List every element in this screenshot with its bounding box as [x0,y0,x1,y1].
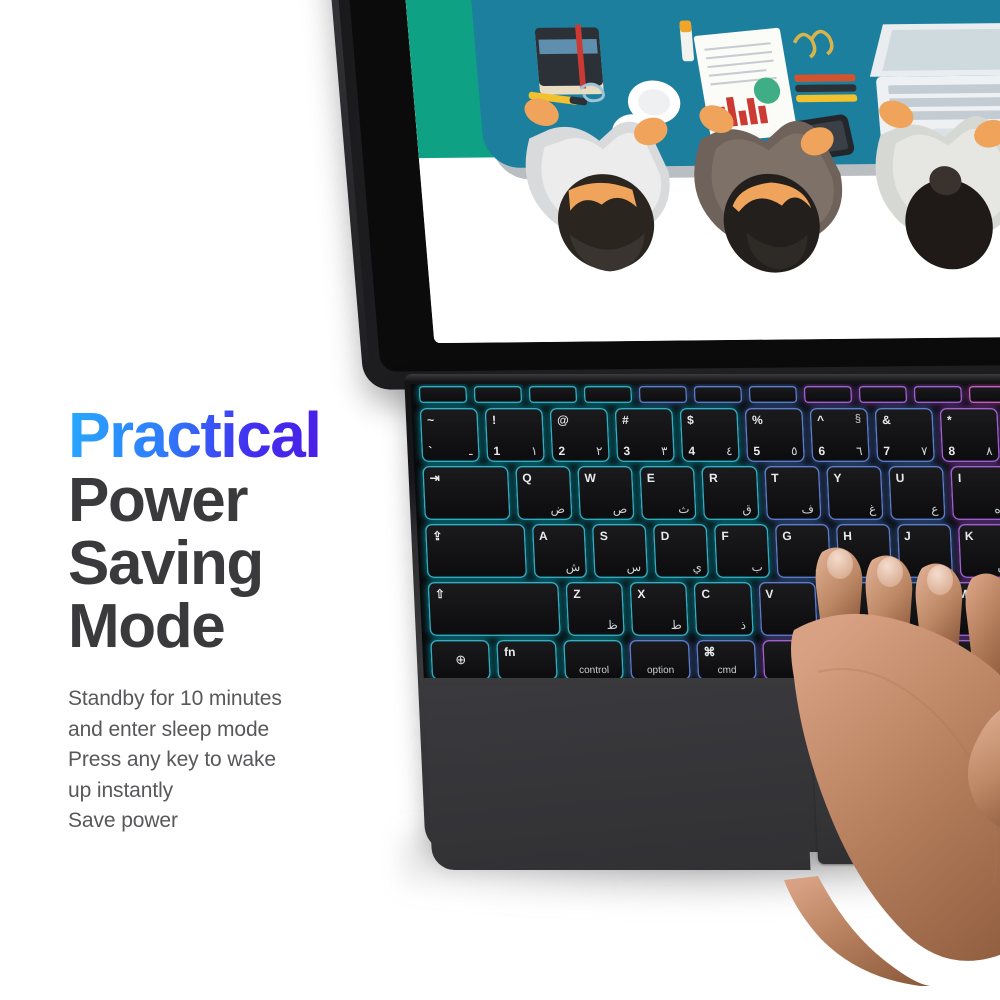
headline-line-2: Saving [68,532,398,595]
headline-line-3: Mode [68,595,398,658]
command-icon: ⌘ [703,645,716,659]
key-3[interactable]: # 3 ٣ [615,408,675,462]
key-8[interactable]: * 8 ٨ [940,408,1000,462]
body-line-3: Press any key to wake [68,745,398,775]
key-label: 2 [558,444,565,458]
presentation-slide: POWERPOINT TEMPLATE BUSINESS PRESENTED B… [378,0,1000,343]
key-label: 7 [883,444,890,458]
key-label: X [637,587,646,601]
key-label-arabic: ٦ [856,444,863,458]
body-line-4: up instantly [68,776,398,806]
key-label-arabic: ذ [740,618,746,632]
key-label-arabic: ٤ [726,444,733,458]
copy-block: Practical Power Saving Mode Standby for … [68,404,398,837]
key-d[interactable]: D ي [653,524,709,578]
key-label: control [579,665,610,676]
key-y[interactable]: Y غ [826,466,884,520]
key-label: S [599,529,608,543]
headline-line-1: Power [68,469,398,532]
palm-rest [424,686,810,870]
key-label-arabic: ص [612,502,627,516]
key-label: E [646,471,655,485]
key-7[interactable]: & 7 ٧ [875,408,935,462]
key-f3[interactable] [584,386,633,403]
key-label: ~ [427,413,435,427]
key-c[interactable]: C ذ [694,582,754,636]
capslock-icon: ⇪ [432,529,443,543]
key-label: R [709,471,718,485]
key-f1[interactable] [474,386,523,403]
key-5[interactable]: % 5 ٥ [745,408,805,462]
key-label-arabic: ط [670,618,682,632]
key-label-arabic: ع [931,502,939,516]
key-t[interactable]: T ف [764,466,822,520]
key-label-arabic: ـ [469,444,473,458]
meeting-illustration-svg [434,0,1000,309]
slide-illustration [434,0,1000,309]
key-label: K [965,529,974,543]
key-f9[interactable] [914,386,963,403]
shift-icon: ⇧ [435,587,446,601]
key-1[interactable]: ! 1 ١ [485,408,545,462]
key-control[interactable]: control [563,640,624,678]
key-u[interactable]: U ع [888,466,946,520]
key-backtick[interactable]: ~ ` ـ [420,408,480,462]
screen-bezel: POWERPOINT TEMPLATE BUSINESS PRESENTED B… [320,0,1000,372]
body-line-5: Save power [68,806,398,836]
key-label: F [721,529,729,543]
key-label: option [647,665,675,676]
headline-accent: Practical [68,404,320,467]
key-s[interactable]: S س [592,524,648,578]
key-label: Y [833,471,842,485]
key-f10[interactable] [969,386,1000,403]
key-label: @ [557,413,569,427]
body-copy: Standby for 10 minutes and enter sleep m… [68,684,398,836]
key-label: ^ [817,413,825,427]
key-label-arabic: ١ [531,444,538,458]
key-label-arabic: ق [742,502,752,516]
key-label-arabic: ش [565,560,580,574]
keyboard-row-q[interactable]: ⇥ Q ض W ص E ث R [414,466,1000,520]
key-label-arabic: ٧ [921,444,928,458]
key-q[interactable]: Q ض [515,466,573,520]
key-label: % [752,413,763,427]
key-label: U [895,471,904,485]
key-e[interactable]: E ث [639,466,697,520]
tab-icon: ⇥ [429,471,440,485]
key-label-arabic: ظ [606,618,618,632]
key-label-arabic: ف [801,502,814,516]
key-label: Q [522,471,532,485]
key-label: 3 [623,444,630,458]
globe-icon: ⊕ [455,652,467,668]
key-f5[interactable] [694,386,743,403]
key-label-alt: § [855,413,862,425]
key-label: $ [687,413,694,427]
key-label: H [843,529,852,543]
key-command-left[interactable]: ⌘ cmd [696,640,757,678]
key-a[interactable]: A ش [531,524,587,578]
left-hand-svg [762,546,1000,986]
key-label: ` [428,444,433,458]
globe-key[interactable]: ⊕ [430,640,491,678]
key-label: & [882,413,891,427]
keyboard-row-function[interactable] [411,386,1000,403]
key-label: cmd [717,665,736,676]
key-label-arabic: ٥ [791,444,798,458]
key-option-left[interactable]: option [629,640,690,678]
key-2[interactable]: @ 2 ٢ [550,408,610,462]
key-label: * [947,413,952,427]
key-label-arabic: ٢ [596,444,603,458]
key-label: Z [573,587,581,601]
poster-canvas: Practical Power Saving Mode Standby for … [0,0,1000,1000]
key-label: 4 [688,444,695,458]
key-label: # [622,413,629,427]
key-z[interactable]: Z ظ [566,582,626,636]
deck-lip [404,374,1000,382]
laptop-lid: POWERPOINT TEMPLATE BUSINESS PRESENTED B… [273,0,1000,390]
key-esc[interactable] [419,386,468,403]
key-label: 8 [948,444,955,458]
key-label: G [782,529,792,543]
body-line-2: and enter sleep mode [68,715,398,745]
key-label-arabic: ي [692,560,702,574]
key-f6[interactable] [749,386,798,403]
key-label: W [584,471,596,485]
key-label: T [771,471,779,485]
key-label: 6 [818,444,825,458]
pencil-bundle [794,74,857,102]
key-label-arabic: ض [550,502,565,516]
key-f2[interactable] [529,386,578,403]
laptop-device: POWERPOINT TEMPLATE BUSINESS PRESENTED B… [330,0,1000,986]
key-f8[interactable] [859,386,908,403]
key-w[interactable]: W ص [577,466,635,520]
key-label: fn [504,645,516,659]
laptop-screen[interactable]: POWERPOINT TEMPLATE BUSINESS PRESENTED B… [378,0,1000,343]
key-label: 5 [753,444,760,458]
key-label: D [660,529,669,543]
key-label-arabic: س [626,560,641,574]
key-label: ! [492,413,497,427]
left-hand [762,546,1000,986]
key-label-arabic: ٨ [986,444,993,458]
key-label-arabic: ث [678,502,690,516]
key-label-arabic: غ [869,502,877,516]
key-x[interactable]: X ط [630,582,690,636]
key-4[interactable]: $ 4 ٤ [680,408,740,462]
key-label: I [958,471,962,485]
key-f7[interactable] [804,386,853,403]
key-label: J [904,529,911,543]
key-label: A [539,529,548,543]
key-capslock[interactable]: ⇪ [425,524,527,578]
key-r[interactable]: R ق [702,466,760,520]
key-label-arabic: ٣ [661,444,668,458]
key-label: C [701,587,710,601]
headline-main: Power Saving Mode [68,469,398,659]
key-f4[interactable] [639,386,688,403]
key-label: 1 [493,444,500,458]
key-i[interactable]: I ه [950,466,1000,520]
keyboard-row-number[interactable]: ~ ` ـ ! 1 ١ @ 2 ٢ # [412,408,1000,462]
key-fn[interactable]: fn [497,640,558,678]
key-6[interactable]: ^ 6 § ٦ [810,408,870,462]
key-shift-left[interactable]: ⇧ [427,582,561,636]
key-tab[interactable]: ⇥ [422,466,510,520]
body-line-1: Standby for 10 minutes [68,684,398,714]
